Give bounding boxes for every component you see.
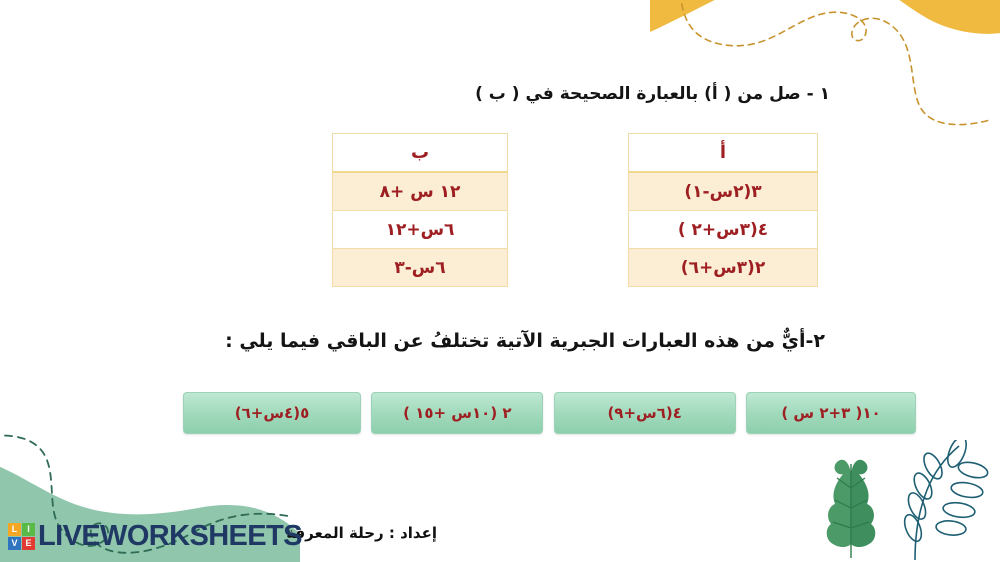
question-1-title: ١ - صل من ( أ) بالعبارة الصحيحة في ( ب ) bbox=[475, 84, 830, 104]
answer-choices-row: ١٠( ٣+٢ س ) ٤(٦س+٩) ٢ (١٠س +١٥ ) ٥(٤س+٦) bbox=[183, 392, 916, 434]
table-b-cell-2[interactable]: ٦س-٣ bbox=[333, 249, 508, 287]
solid-leaf-icon bbox=[827, 460, 876, 558]
table-row: ٦س-٣ bbox=[333, 249, 508, 287]
table-row: ٣(٢س-١) bbox=[629, 172, 818, 211]
logo-letter-v: V bbox=[8, 537, 21, 550]
table-a-cell-0[interactable]: ٣(٢س-١) bbox=[629, 172, 818, 211]
table-a-header: أ bbox=[629, 134, 818, 173]
leaves-illustration-decoration bbox=[807, 440, 997, 560]
table-row: ٦س+١٢ bbox=[333, 211, 508, 249]
table-row: ٢(٣س+٦) bbox=[629, 249, 818, 287]
answer-choice-1[interactable]: ٥(٤س+٦) bbox=[183, 392, 361, 434]
liveworksheets-logo: L I V E LIVEWORKSHEETS bbox=[8, 522, 302, 551]
answer-choice-3[interactable]: ٤(٦س+٩) bbox=[554, 392, 736, 434]
dashed-curve-top-decoration bbox=[670, 0, 1000, 132]
table-a-cell-2[interactable]: ٢(٣س+٦) bbox=[629, 249, 818, 287]
table-a-cell-1[interactable]: ٤(٣س+٢ ) bbox=[629, 211, 818, 249]
match-table-column-a: أ ٣(٢س-١) ٤(٣س+٢ ) ٢(٣س+٦) bbox=[628, 133, 818, 287]
question-2-title: ٢-أيٌّ من هذه العبارات الجبرية الآتية تخ… bbox=[225, 330, 825, 352]
logo-wordmark: LIVEWORKSHEETS bbox=[38, 522, 302, 551]
table-row: ٤(٣س+٢ ) bbox=[629, 211, 818, 249]
credit-text: إعداد : رحلة المعرفة bbox=[286, 524, 437, 542]
answer-choice-4[interactable]: ١٠( ٣+٢ س ) bbox=[746, 392, 916, 434]
table-row: ١٢ س +٨ bbox=[333, 172, 508, 211]
table-b-cell-1[interactable]: ٦س+١٢ bbox=[333, 211, 508, 249]
logo-letter-l: L bbox=[8, 523, 21, 536]
table-row: أ bbox=[629, 134, 818, 173]
table-b-cell-0[interactable]: ١٢ س +٨ bbox=[333, 172, 508, 211]
logo-letter-i: I bbox=[22, 523, 35, 536]
answer-choice-2[interactable]: ٢ (١٠س +١٥ ) bbox=[371, 392, 543, 434]
table-b-header: ب bbox=[333, 134, 508, 173]
worksheet-page: ١ - صل من ( أ) بالعبارة الصحيحة في ( ب )… bbox=[0, 0, 1000, 562]
outlined-branch-icon bbox=[901, 440, 989, 560]
logo-letter-e: E bbox=[22, 537, 35, 550]
orange-blob-decoration bbox=[650, 0, 1000, 150]
logo-letter-grid-icon: L I V E bbox=[8, 523, 35, 550]
match-table-column-b: ب ١٢ س +٨ ٦س+١٢ ٦س-٣ bbox=[332, 133, 508, 287]
table-row: ب bbox=[333, 134, 508, 173]
